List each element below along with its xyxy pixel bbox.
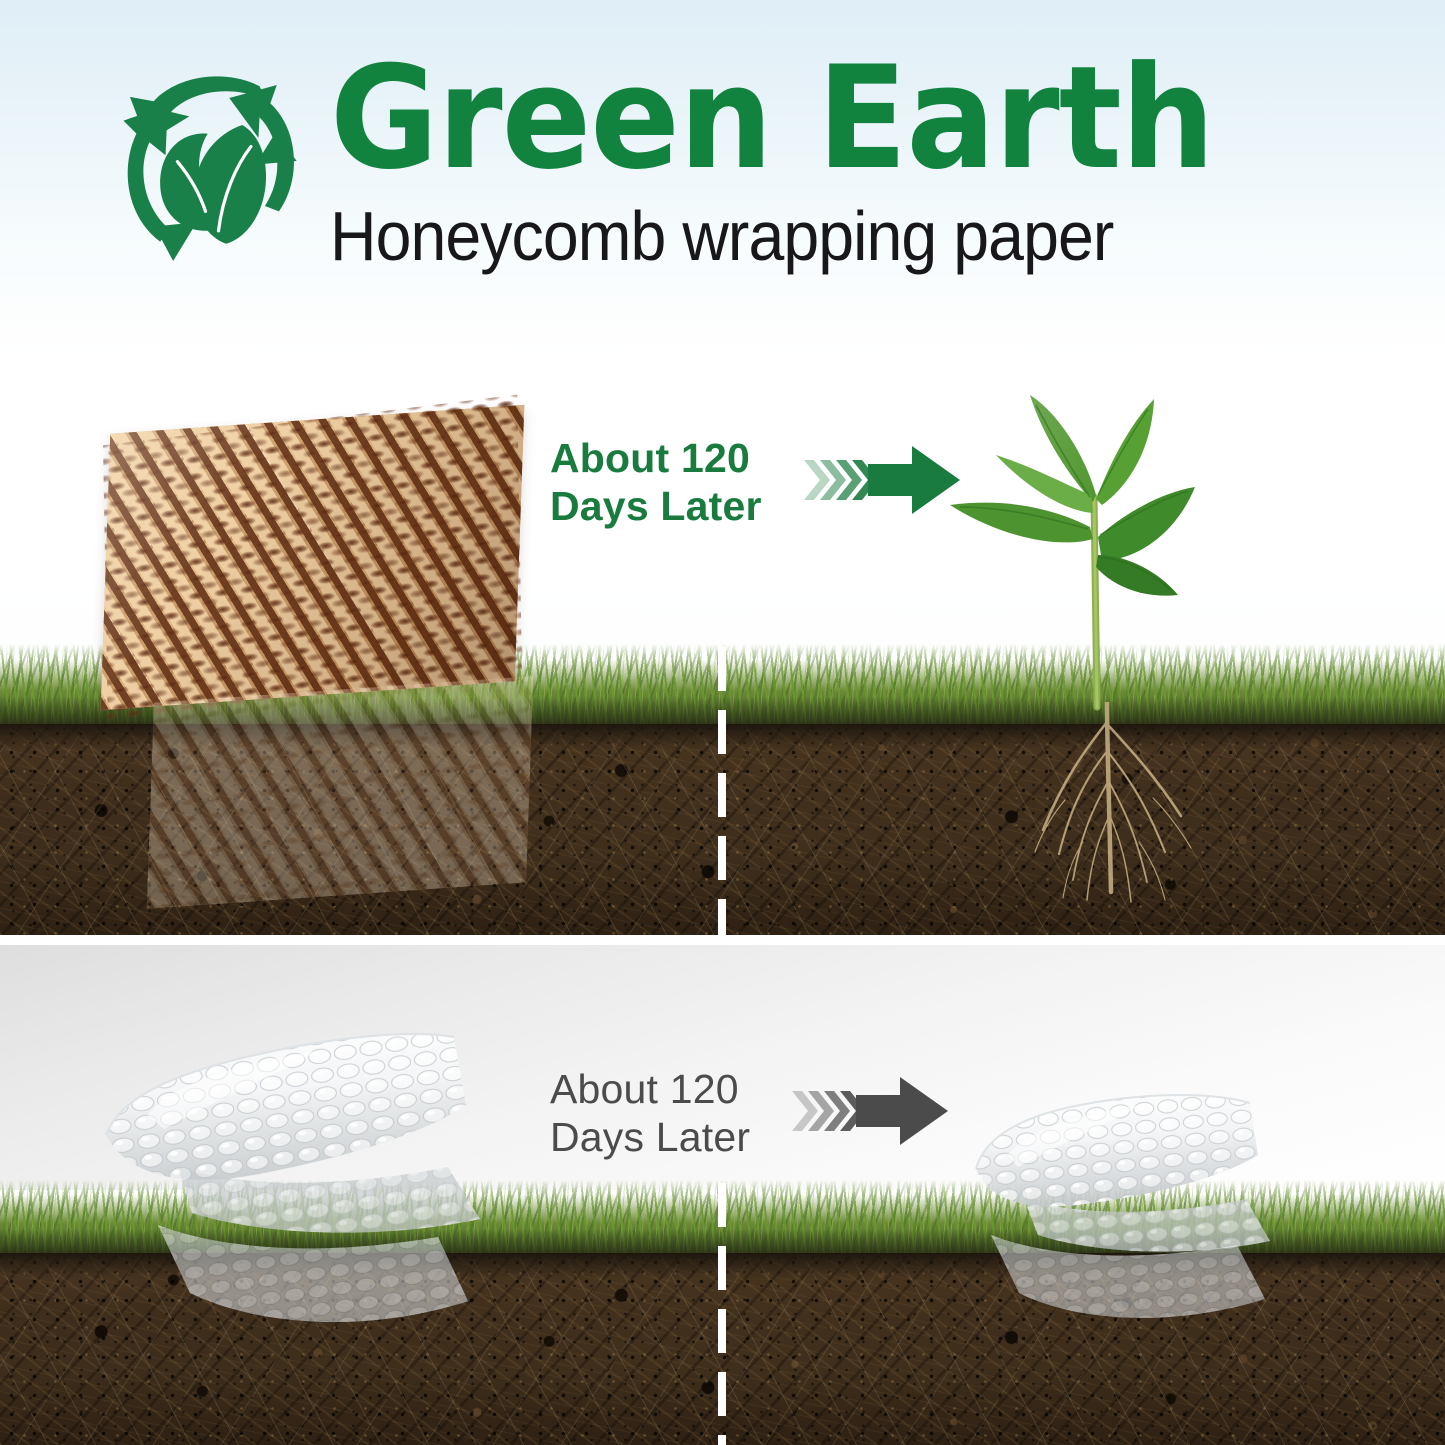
conversion-prefix: About [550,435,681,481]
conversion-days-number: 120 [681,435,750,481]
buried-bubble-wrap-right [985,1227,1275,1347]
conversion-line2: Days Later [550,482,762,530]
infographic-root: Green Earth Honeycomb wrapping paper [0,0,1445,1445]
green-seedling-plant [930,377,1270,712]
conversion-prefix: About [550,1066,670,1112]
conversion-label-gray: About 120 Days Later [550,1065,952,1162]
title-block: Green Earth Honeycomb wrapping paper [330,52,1330,271]
page-subtitle: Honeycomb wrapping paper [330,201,1250,271]
buried-honeycomb-paper-remnant [147,676,533,909]
arrow-right-chevrons-icon [804,442,964,523]
conversion-label-green: About 120 Days Later [550,434,964,531]
conversion-days-number: 120 [670,1066,739,1112]
buried-bubble-wrap-left [150,1215,480,1355]
page-title: Green Earth [330,52,1260,187]
header-banner: Green Earth Honeycomb wrapping paper [0,0,1445,372]
conversion-text: About 120 Days Later [550,434,762,531]
conversion-line2: Days Later [550,1113,750,1161]
honeycomb-panel: About 120 Days Later [0,372,1445,935]
honeycomb-kraft-paper-sheet [101,405,525,710]
panel-separator [0,935,1445,945]
panel-divider-dashed-line [718,647,726,935]
plant-root-system [1025,702,1225,917]
plastic-bubble-wrap-roll-left [88,1007,488,1242]
arrow-right-chevrons-icon [792,1073,952,1154]
conversion-text: About 120 Days Later [550,1065,750,1162]
bubblewrap-panel: About 120 Days Later [0,945,1445,1445]
recycle-leaf-logo-icon [104,58,320,274]
panel-divider-dashed-line [718,1183,726,1445]
